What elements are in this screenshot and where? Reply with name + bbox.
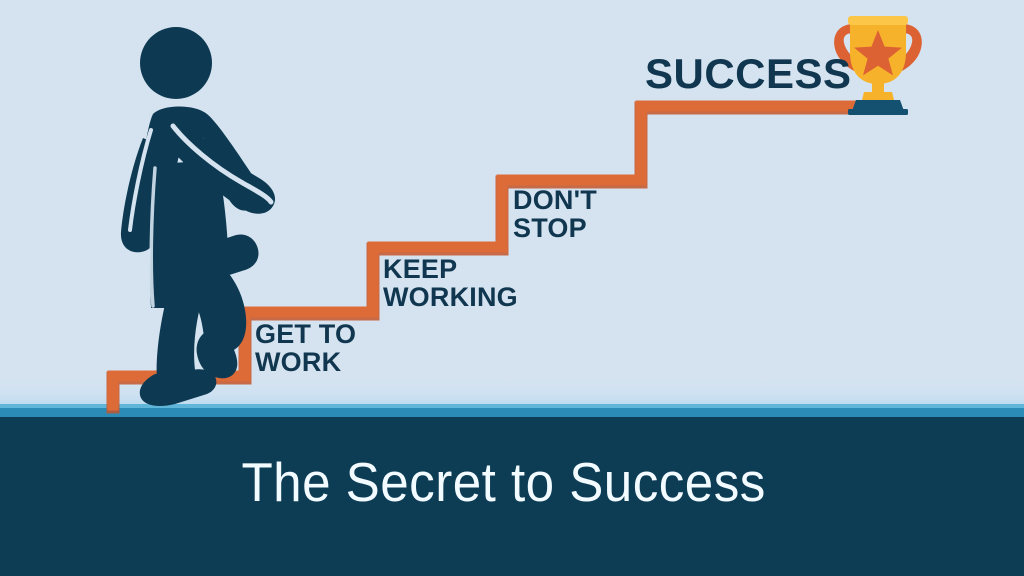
page-title: The Secret to Success bbox=[36, 450, 988, 514]
step-label-success: SUCCESS bbox=[645, 50, 852, 98]
step-label-dont-stop: DON'T STOP bbox=[513, 186, 597, 242]
step-label-keep-working: KEEP WORKING bbox=[383, 255, 518, 311]
infographic-slide: GET TO WORK KEEP WORKING DON'T STOP SUCC… bbox=[0, 0, 1024, 576]
step-label-get-to-work: GET TO WORK bbox=[255, 320, 356, 376]
